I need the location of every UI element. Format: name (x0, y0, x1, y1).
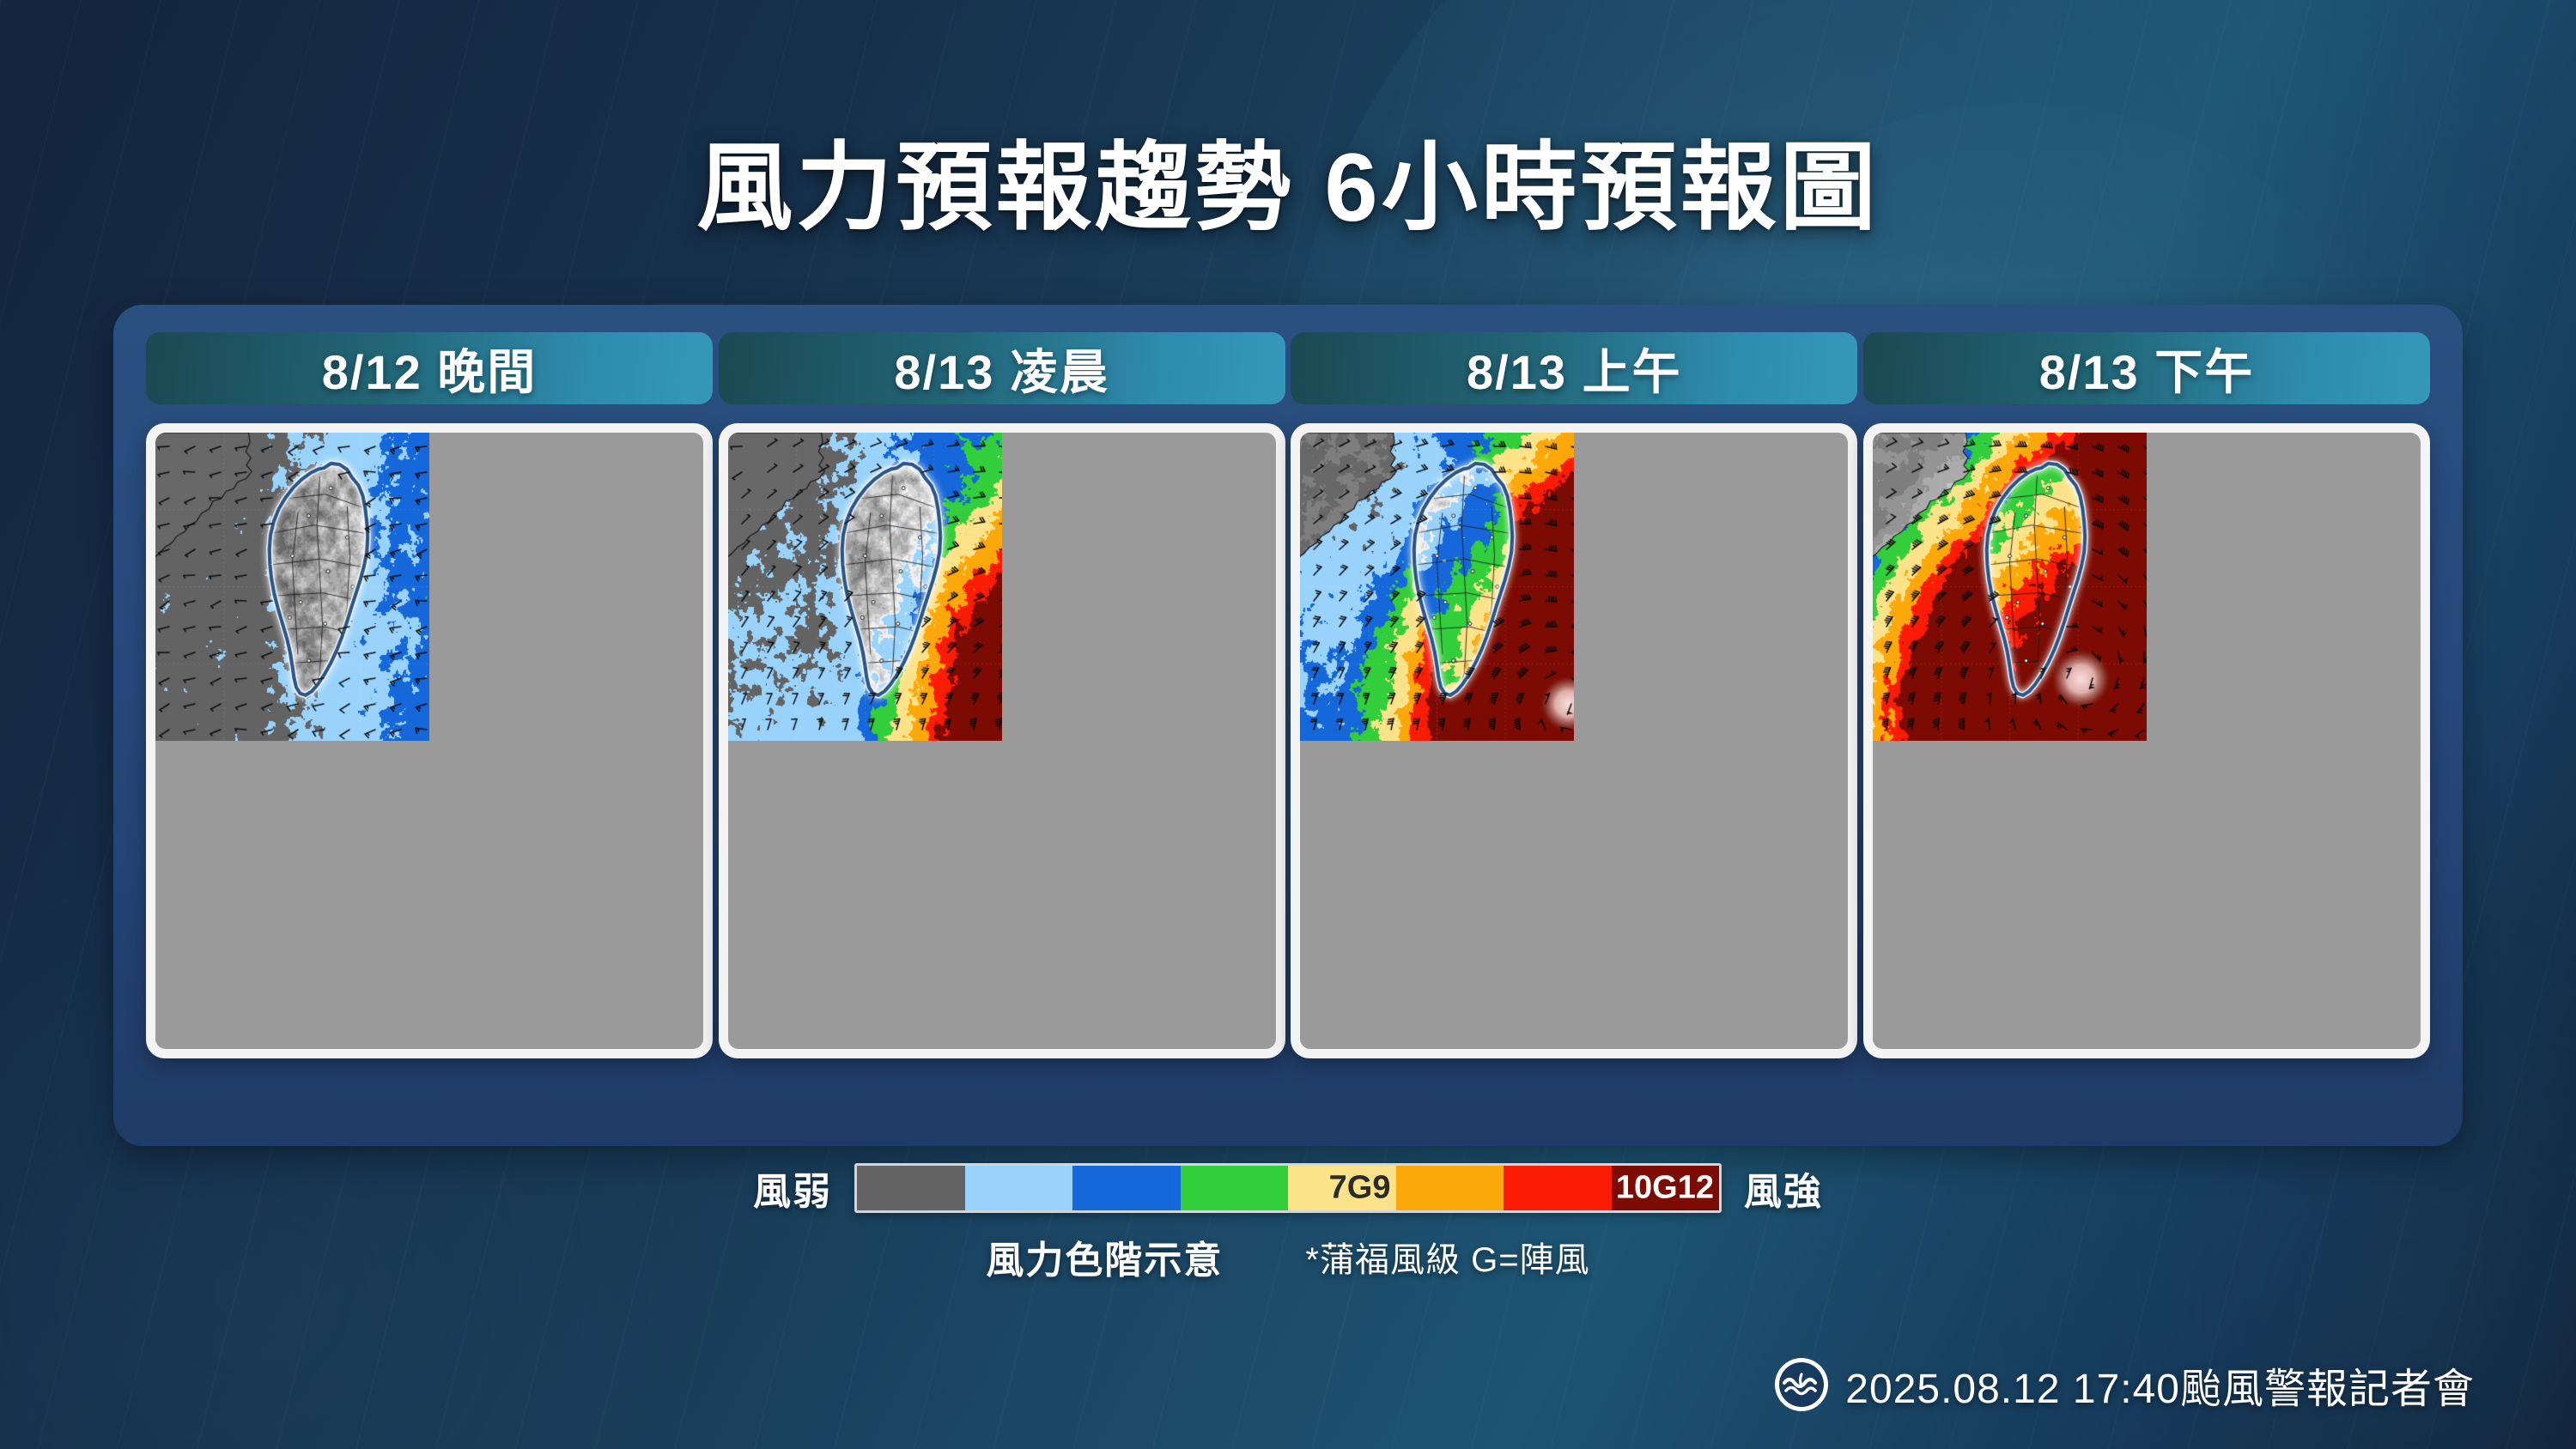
legend: 風弱 7G910G12 風強 (0, 1161, 2576, 1216)
forecast-panel-2[interactable]: 8/13 凌晨 (719, 332, 1285, 1119)
map-frame-4 (1863, 423, 2430, 1058)
forecast-panel-3[interactable]: 8/13 上午 (1291, 332, 1857, 1119)
legend-swatch-2 (965, 1166, 1073, 1210)
panel-header-3: 8/13 上午 (1291, 332, 1857, 404)
legend-swatch-label-8: 10G12 (1616, 1170, 1714, 1207)
legend-subtitle-row: 風力色階示意 *蒲福風級 G=陣風 (0, 1229, 2576, 1284)
wind-forecast-map-3[interactable] (1300, 433, 1848, 1049)
map-frame-3 (1291, 423, 1857, 1058)
legend-swatch-label-5: 7G9 (1329, 1170, 1391, 1207)
wind-forecast-map-2[interactable] (728, 433, 1276, 1049)
page-title: 風力預報趨勢 6小時預報圖 (0, 110, 2576, 249)
footer-timestamp: 2025.08.12 17:40颱風警報記者會 (1845, 1355, 2475, 1415)
forecast-panel-4[interactable]: 8/13 下午 (1863, 332, 2430, 1119)
legend-swatch-4 (1181, 1166, 1289, 1210)
legend-swatch-6 (1396, 1166, 1504, 1210)
cwa-wave-logo-icon (1775, 1358, 1828, 1411)
legend-swatch-8: 10G12 (1612, 1166, 1720, 1210)
legend-caption: 風力色階示意 (986, 1229, 1223, 1284)
map-frame-2 (719, 423, 1285, 1058)
legend-swatch-1 (857, 1166, 965, 1210)
legend-swatch-5: 7G9 (1288, 1166, 1396, 1210)
wind-forecast-map-1[interactable] (155, 433, 703, 1049)
legend-swatch-7 (1504, 1166, 1612, 1210)
forecast-panel-list: 8/12 晚間 8/13 凌晨 8/13 上午 (113, 305, 2463, 1146)
forecast-panel-1[interactable]: 8/12 晚間 (146, 332, 713, 1119)
legend-weak-label: 風弱 (753, 1161, 832, 1216)
panel-header-1: 8/12 晚間 (146, 332, 713, 404)
legend-note: *蒲福風級 G=陣風 (1305, 1232, 1589, 1282)
panel-header-2: 8/13 凌晨 (719, 332, 1285, 404)
wind-forecast-map-4[interactable] (1873, 433, 2421, 1049)
panel-header-4: 8/13 下午 (1863, 332, 2430, 404)
legend-color-bar: 7G910G12 (854, 1163, 1722, 1213)
forecast-board: 8/12 晚間 8/13 凌晨 8/13 上午 (113, 305, 2463, 1146)
footer: 2025.08.12 17:40颱風警報記者會 (1775, 1355, 2475, 1415)
legend-swatch-3 (1072, 1166, 1181, 1210)
map-frame-1 (146, 423, 713, 1058)
legend-strong-label: 風強 (1744, 1161, 1823, 1216)
